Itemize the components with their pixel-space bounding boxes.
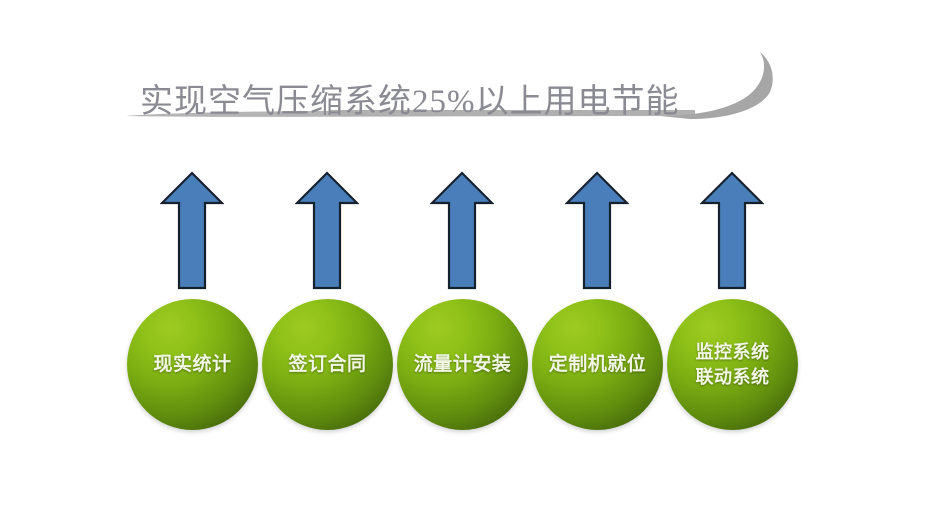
step-circle-3[interactable]: 流量计安装: [397, 299, 528, 430]
arrow-step-1: [160, 171, 224, 291]
step-label-2: 签订合同: [262, 299, 393, 430]
step-label-5-line1: 监控系统: [696, 340, 770, 364]
step-circle-5[interactable]: 监控系统 联动系统: [667, 299, 798, 430]
arrow-step-4: [565, 171, 629, 291]
arrow-step-3: [430, 171, 494, 291]
step-label-5-line2: 联动系统: [696, 365, 770, 389]
step-label-5: 监控系统 联动系统: [667, 299, 798, 430]
step-circle-2[interactable]: 签订合同: [262, 299, 393, 430]
step-label-4: 定制机就位: [532, 299, 663, 430]
step-label-3: 流量计安装: [397, 299, 528, 430]
up-arrow-icon: [430, 171, 494, 291]
up-arrow-icon: [700, 171, 764, 291]
arrow-step-2: [295, 171, 359, 291]
step-label-2-line1: 签订合同: [288, 352, 366, 378]
step-label-1: 现实统计: [127, 299, 258, 430]
slide-canvas: 实现空气压缩系统25%以上用电节能 现实统计 签订合同: [0, 0, 945, 529]
step-label-1-line1: 现实统计: [153, 352, 231, 378]
step-circle-4[interactable]: 定制机就位: [532, 299, 663, 430]
up-arrow-icon: [295, 171, 359, 291]
step-label-4-line1: 定制机就位: [549, 352, 647, 378]
step-label-3-line1: 流量计安装: [414, 352, 512, 378]
arrow-step-5: [700, 171, 764, 291]
step-circle-1[interactable]: 现实统计: [127, 299, 258, 430]
page-title: 实现空气压缩系统25%以上用电节能: [140, 75, 740, 130]
title-banner: 实现空气压缩系统25%以上用电节能: [0, 30, 945, 145]
up-arrow-icon: [160, 171, 224, 291]
up-arrow-icon: [565, 171, 629, 291]
